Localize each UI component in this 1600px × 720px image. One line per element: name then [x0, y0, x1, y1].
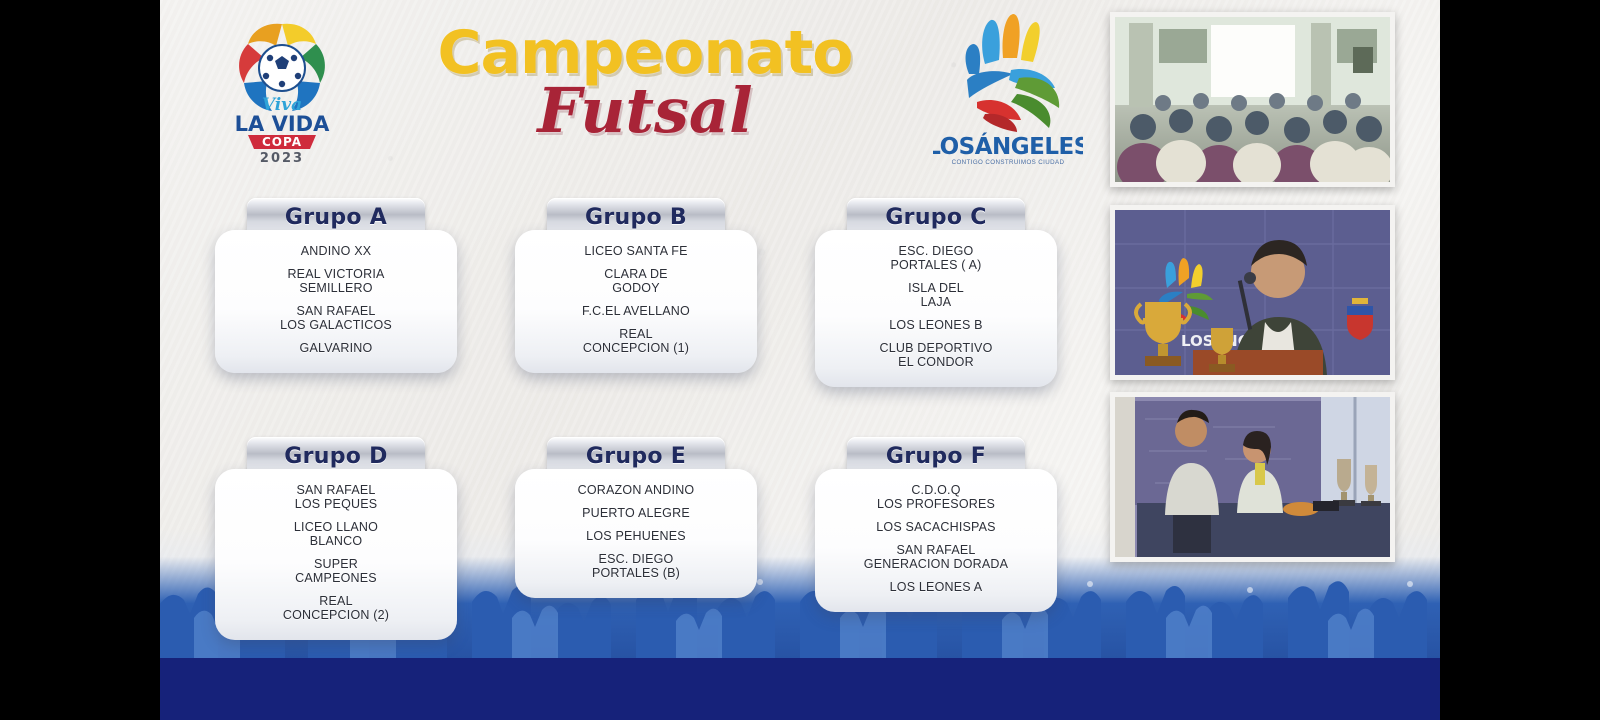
team-name: LOS SACACHISPAS [825, 520, 1047, 534]
photo-speaker-podium[interactable]: LOSÁNGE [1110, 205, 1395, 380]
title-futsal: Futsal [415, 74, 875, 147]
group-team-list: ESC. DIEGOPORTALES ( A) ISLA DELLAJA LOS… [815, 230, 1057, 387]
team-name: REALCONCEPCION (1) [525, 327, 747, 355]
group-label: Grupo E [586, 444, 686, 469]
team-name: REALCONCEPCION (2) [225, 594, 447, 622]
group-card-a[interactable]: Grupo A ANDINO XX REAL VICTORIASEMILLERO… [215, 198, 457, 373]
team-name: LICEO SANTA FE [525, 244, 747, 258]
team-name: CORAZON ANDINO [525, 483, 747, 497]
group-label: Grupo B [585, 205, 687, 230]
speaker-photo-content: LOSÁNGE [1115, 210, 1390, 375]
award-photo-content [1115, 397, 1390, 557]
team-name: ISLA DELLAJA [825, 281, 1047, 309]
group-card-c[interactable]: Grupo C ESC. DIEGOPORTALES ( A) ISLA DEL… [815, 198, 1057, 387]
chalkboard [1133, 401, 1321, 505]
group-label: Grupo D [284, 444, 387, 469]
team-name: ESC. DIEGOPORTALES (B) [525, 552, 747, 580]
group-label: Grupo C [885, 205, 986, 230]
letterbox-right [1440, 0, 1600, 720]
group-card-e[interactable]: Grupo E CORAZON ANDINO PUERTO ALEGRE LOS… [515, 437, 757, 598]
photo-award-table[interactable] [1110, 392, 1395, 562]
event-title: Campeonato Futsal [415, 12, 875, 162]
group-card-b[interactable]: Grupo B LICEO SANTA FE CLARA DEGODOY F.C… [515, 198, 757, 373]
group-team-list: SAN RAFAELLOS PEQUES LICEO LLANOBLANCO S… [215, 469, 457, 640]
team-name: LOS LEONES B [825, 318, 1047, 332]
group-label: Grupo F [886, 444, 986, 469]
logo-wordmark: LOSÁNGELES [933, 132, 1083, 160]
team-name: C.D.O.QLOS PROFESORES [825, 483, 1047, 511]
presentation-slide: Viva LA VIDA COPA 2023 Campeonato Futsal [160, 0, 1440, 720]
microphone-icon [1244, 272, 1256, 284]
group-team-list: ANDINO XX REAL VICTORIASEMILLERO SAN RAF… [215, 230, 457, 373]
team-name: ANDINO XX [225, 244, 447, 258]
group-team-list: C.D.O.QLOS PROFESORES LOS SACACHISPAS SA… [815, 469, 1057, 612]
photo-audience[interactable] [1110, 12, 1395, 187]
team-name: ESC. DIEGOPORTALES ( A) [825, 244, 1047, 272]
logo-tagline: CONTIGO CONSTRUIMOS CIUDAD [952, 159, 1065, 166]
team-name: SAN RAFAELLOS GALACTICOS [225, 304, 447, 332]
group-team-list: CORAZON ANDINO PUERTO ALEGRE LOS PEHUENE… [515, 469, 757, 598]
audience-photo-content [1115, 17, 1390, 182]
copa-viva-la-vida-logo: Viva LA VIDA COPA 2023 [222, 10, 342, 165]
slide-stage: Viva LA VIDA COPA 2023 Campeonato Futsal [0, 0, 1600, 720]
team-name: REAL VICTORIASEMILLERO [225, 267, 447, 295]
letterbox-left [0, 0, 160, 720]
los-angeles-municipality-logo: LOSÁNGELES CONTIGO CONSTRUIMOS CIUDAD [933, 8, 1083, 166]
team-name: CLUB DEPORTIVOEL CONDOR [825, 341, 1047, 369]
wall-edge [1115, 397, 1135, 557]
group-label: Grupo A [285, 205, 387, 230]
logo-ribbon-text: COPA [262, 135, 302, 149]
team-name: PUERTO ALEGRE [525, 506, 747, 520]
team-name: LICEO LLANOBLANCO [225, 520, 447, 548]
colored-hand-leaf-icon [966, 14, 1060, 132]
group-card-d[interactable]: Grupo D SAN RAFAELLOS PEQUES LICEO LLANO… [215, 437, 457, 640]
group-team-list: LICEO SANTA FE CLARA DEGODOY F.C.EL AVEL… [515, 230, 757, 373]
team-name: GALVARINO [225, 341, 447, 355]
footer-blue-bar [160, 658, 1440, 720]
logo-main-text: LA VIDA [235, 112, 330, 136]
team-name: LOS PEHUENES [525, 529, 747, 543]
team-name: SAN RAFAELGENERACION DORADA [825, 543, 1047, 571]
team-name: F.C.EL AVELLANO [525, 304, 747, 318]
team-name: SAN RAFAELLOS PEQUES [225, 483, 447, 511]
team-name: LOS LEONES A [825, 580, 1047, 594]
team-name: SUPERCAMPEONES [225, 557, 447, 585]
group-card-f[interactable]: Grupo F C.D.O.QLOS PROFESORES LOS SACACH… [815, 437, 1057, 612]
logo-year: 2023 [260, 151, 304, 165]
team-name: CLARA DEGODOY [525, 267, 747, 295]
